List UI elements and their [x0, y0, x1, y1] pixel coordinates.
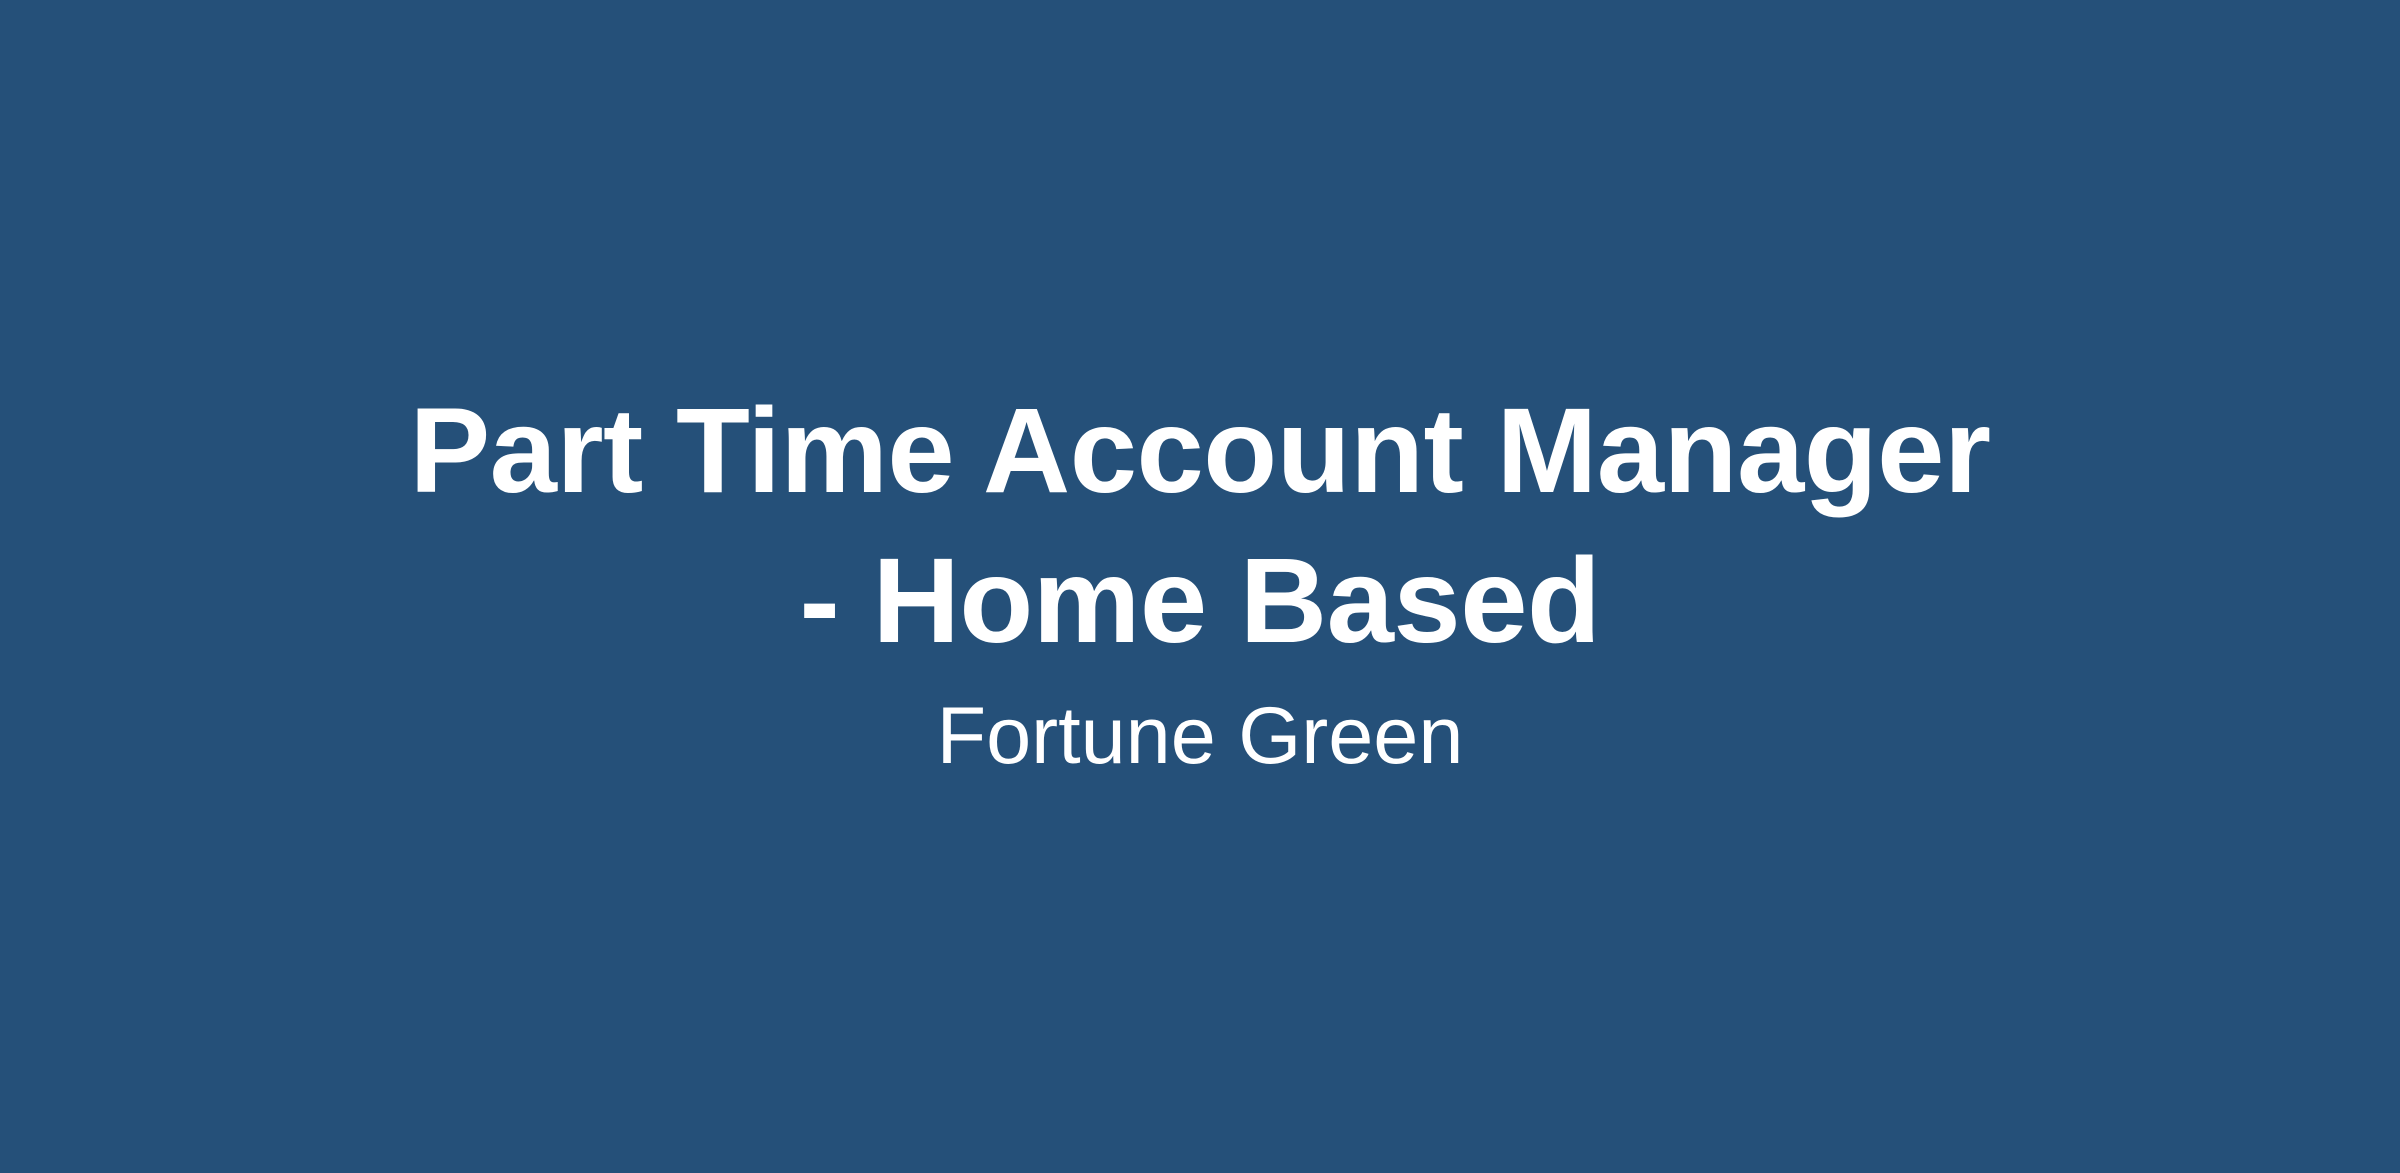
job-share-card: Part Time Account Manager - Home Based F…	[0, 0, 2400, 1173]
page-title: Part Time Account Manager - Home Based	[409, 375, 1990, 675]
job-location: Fortune Green	[937, 689, 1464, 783]
job-card-content: Part Time Account Manager - Home Based F…	[0, 375, 2400, 783]
